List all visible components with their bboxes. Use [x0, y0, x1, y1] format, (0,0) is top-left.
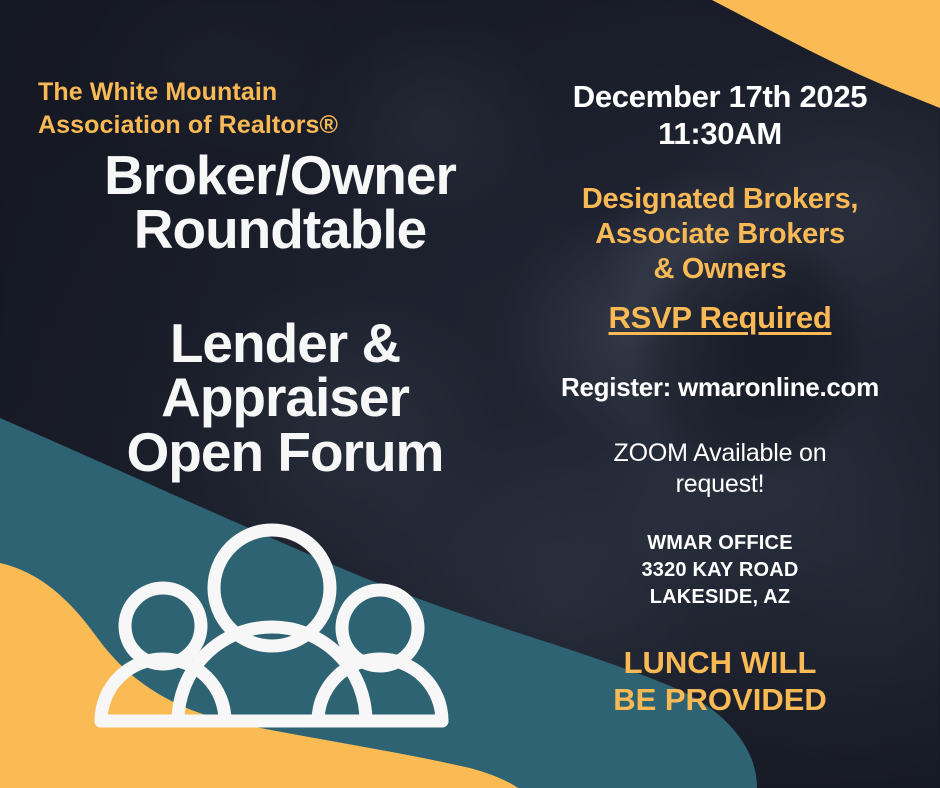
organization-name-line-2: Association of Realtors® — [38, 109, 508, 142]
rsvp-required-notice: RSVP Required — [500, 300, 940, 336]
audience-line-3: & Owners — [500, 252, 940, 287]
lunch-notice-line-2: BE PROVIDED — [500, 681, 940, 718]
event-title-secondary-line-3: Open Forum — [50, 425, 520, 479]
audience-line-2: Associate Brokers — [500, 217, 940, 252]
flyer-canvas: The White Mountain Association of Realto… — [0, 0, 940, 788]
event-title-primary-line-1: Broker/Owner — [30, 148, 530, 202]
right-column: December 17th 2025 11:30AM Designated Br… — [500, 0, 940, 788]
lunch-notice-line-1: LUNCH WILL — [500, 644, 940, 681]
organization-name-line-1: The White Mountain — [38, 76, 508, 109]
event-time: 11:30AM — [500, 115, 940, 152]
event-title-secondary: Lender & Appraiser Open Forum — [50, 316, 520, 479]
organization-name: The White Mountain Association of Realto… — [38, 76, 508, 143]
left-column: The White Mountain Association of Realto… — [0, 0, 540, 788]
registration-info[interactable]: Register: wmaronline.com — [500, 372, 940, 403]
registration-url-label[interactable]: Register: wmaronline.com — [561, 372, 879, 402]
event-title-primary: Broker/Owner Roundtable — [30, 148, 530, 257]
target-audience: Designated Brokers, Associate Brokers & … — [500, 182, 940, 286]
rsvp-required-label: RSVP Required — [609, 300, 832, 335]
event-date-time: December 17th 2025 11:30AM — [500, 78, 940, 152]
venue-street: 3320 KAY ROAD — [500, 557, 940, 584]
venue-address: WMAR OFFICE 3320 KAY ROAD LAKESIDE, AZ — [500, 530, 940, 611]
event-title-secondary-line-1: Lender & — [50, 316, 520, 370]
lunch-notice: LUNCH WILL BE PROVIDED — [500, 644, 940, 718]
venue-city-state: LAKESIDE, AZ — [500, 584, 940, 611]
zoom-availability-note: ZOOM Available on request! — [540, 438, 900, 499]
audience-line-1: Designated Brokers, — [500, 182, 940, 217]
event-title-secondary-line-2: Appraiser — [50, 370, 520, 424]
zoom-note-line-2: request! — [540, 469, 900, 500]
event-date: December 17th 2025 — [500, 78, 940, 115]
venue-name: WMAR OFFICE — [500, 530, 940, 557]
zoom-note-line-1: ZOOM Available on — [540, 438, 900, 469]
event-title-primary-line-2: Roundtable — [30, 202, 530, 256]
